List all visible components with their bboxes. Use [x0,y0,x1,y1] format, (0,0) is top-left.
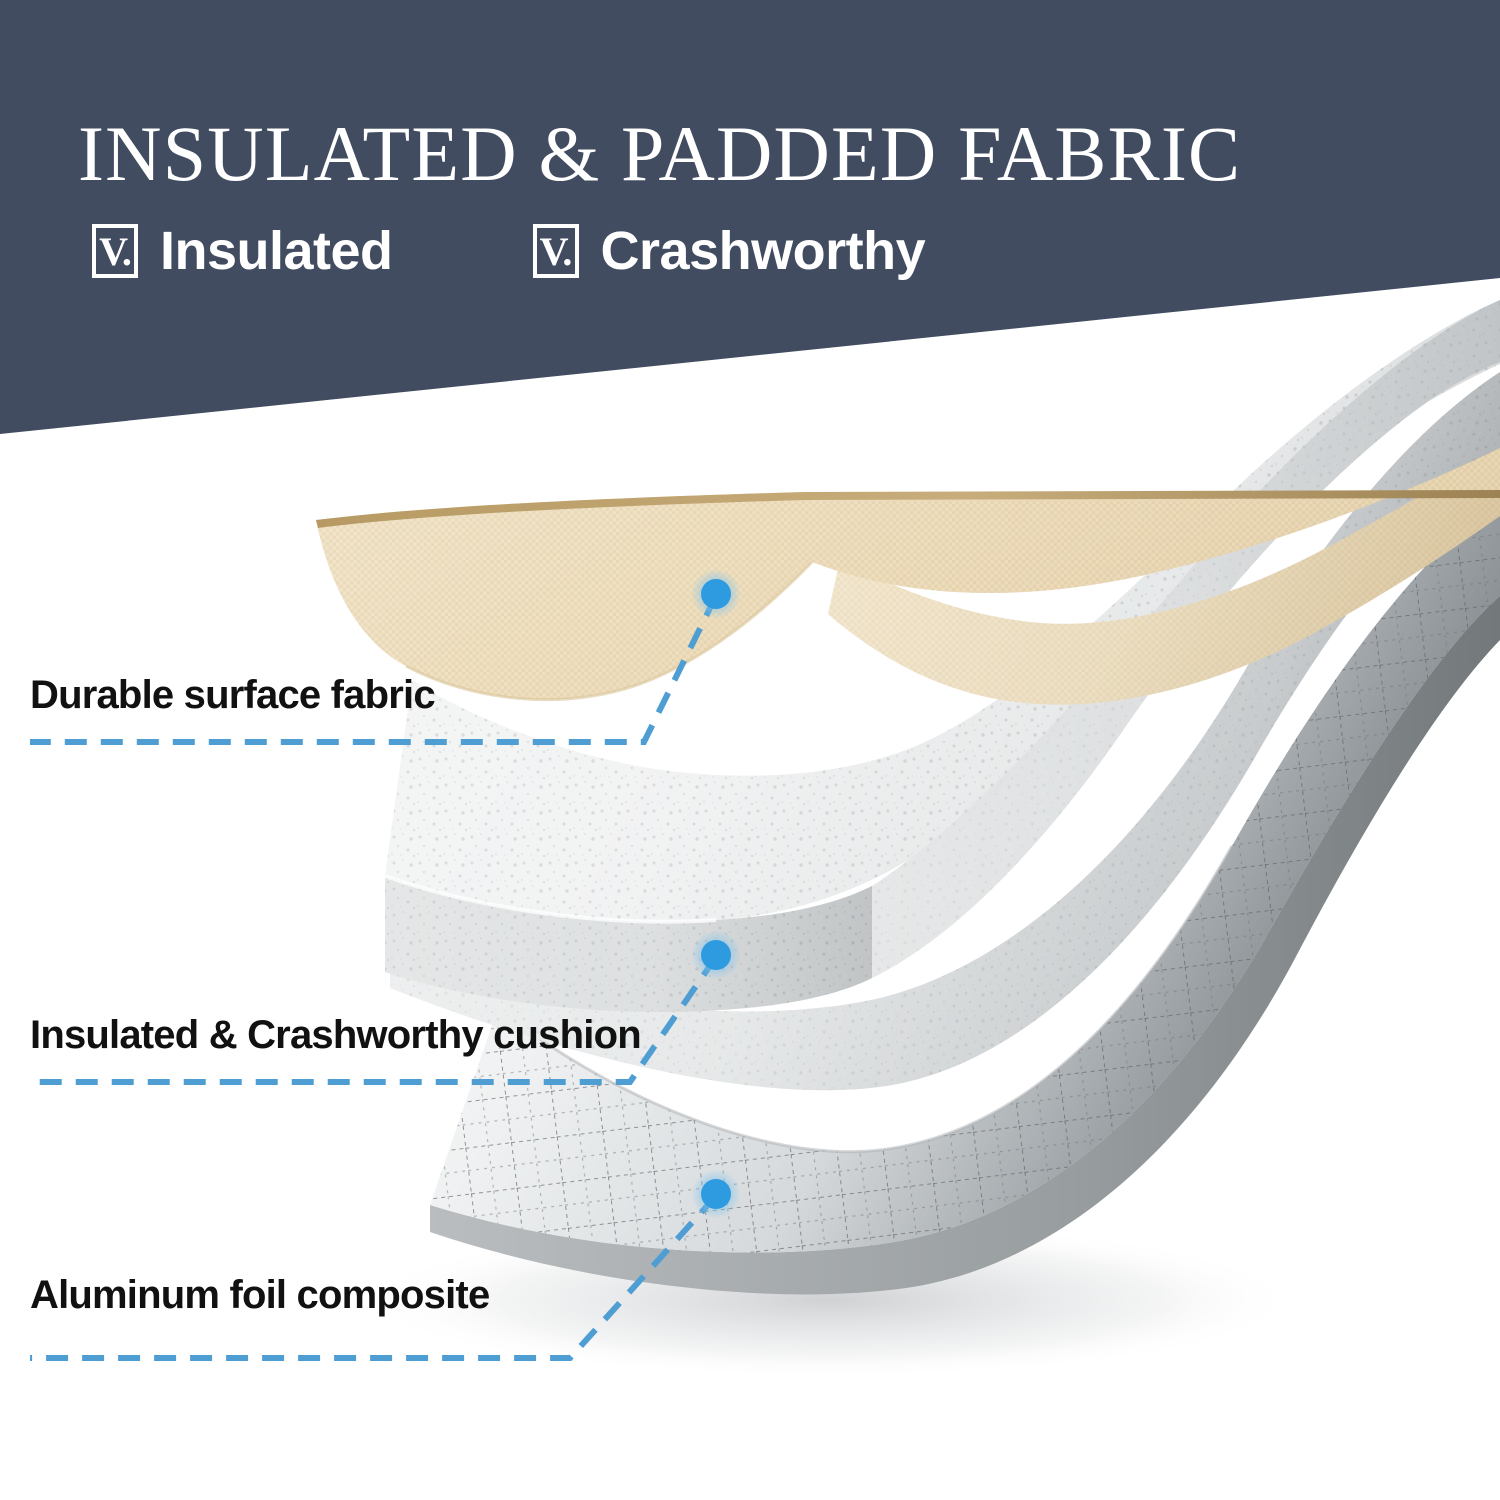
product-infographic: INSULATED & PADDED FABRIC V. Insulated V… [0,0,1500,1500]
checkbox-checked-icon: V. [92,224,138,278]
callout-label: Aluminum foil composite [30,1272,489,1318]
check-glyph: V. [99,232,131,272]
feature-list: V. Insulated V. Crashworthy [92,222,925,280]
feature-item-insulated: V. Insulated [92,222,393,280]
feature-label-insulated: Insulated [160,222,393,280]
feature-item-crashworthy: V. Crashworthy [533,222,926,280]
checkbox-checked-icon: V. [533,224,579,278]
page-title: INSULATED & PADDED FABRIC [78,108,1438,200]
callout-label: Insulated & Crashworthy cushion [30,1012,641,1058]
check-glyph: V. [540,232,572,272]
callout-label: Durable surface fabric [30,672,435,718]
feature-label-crashworthy: Crashworthy [601,222,926,280]
